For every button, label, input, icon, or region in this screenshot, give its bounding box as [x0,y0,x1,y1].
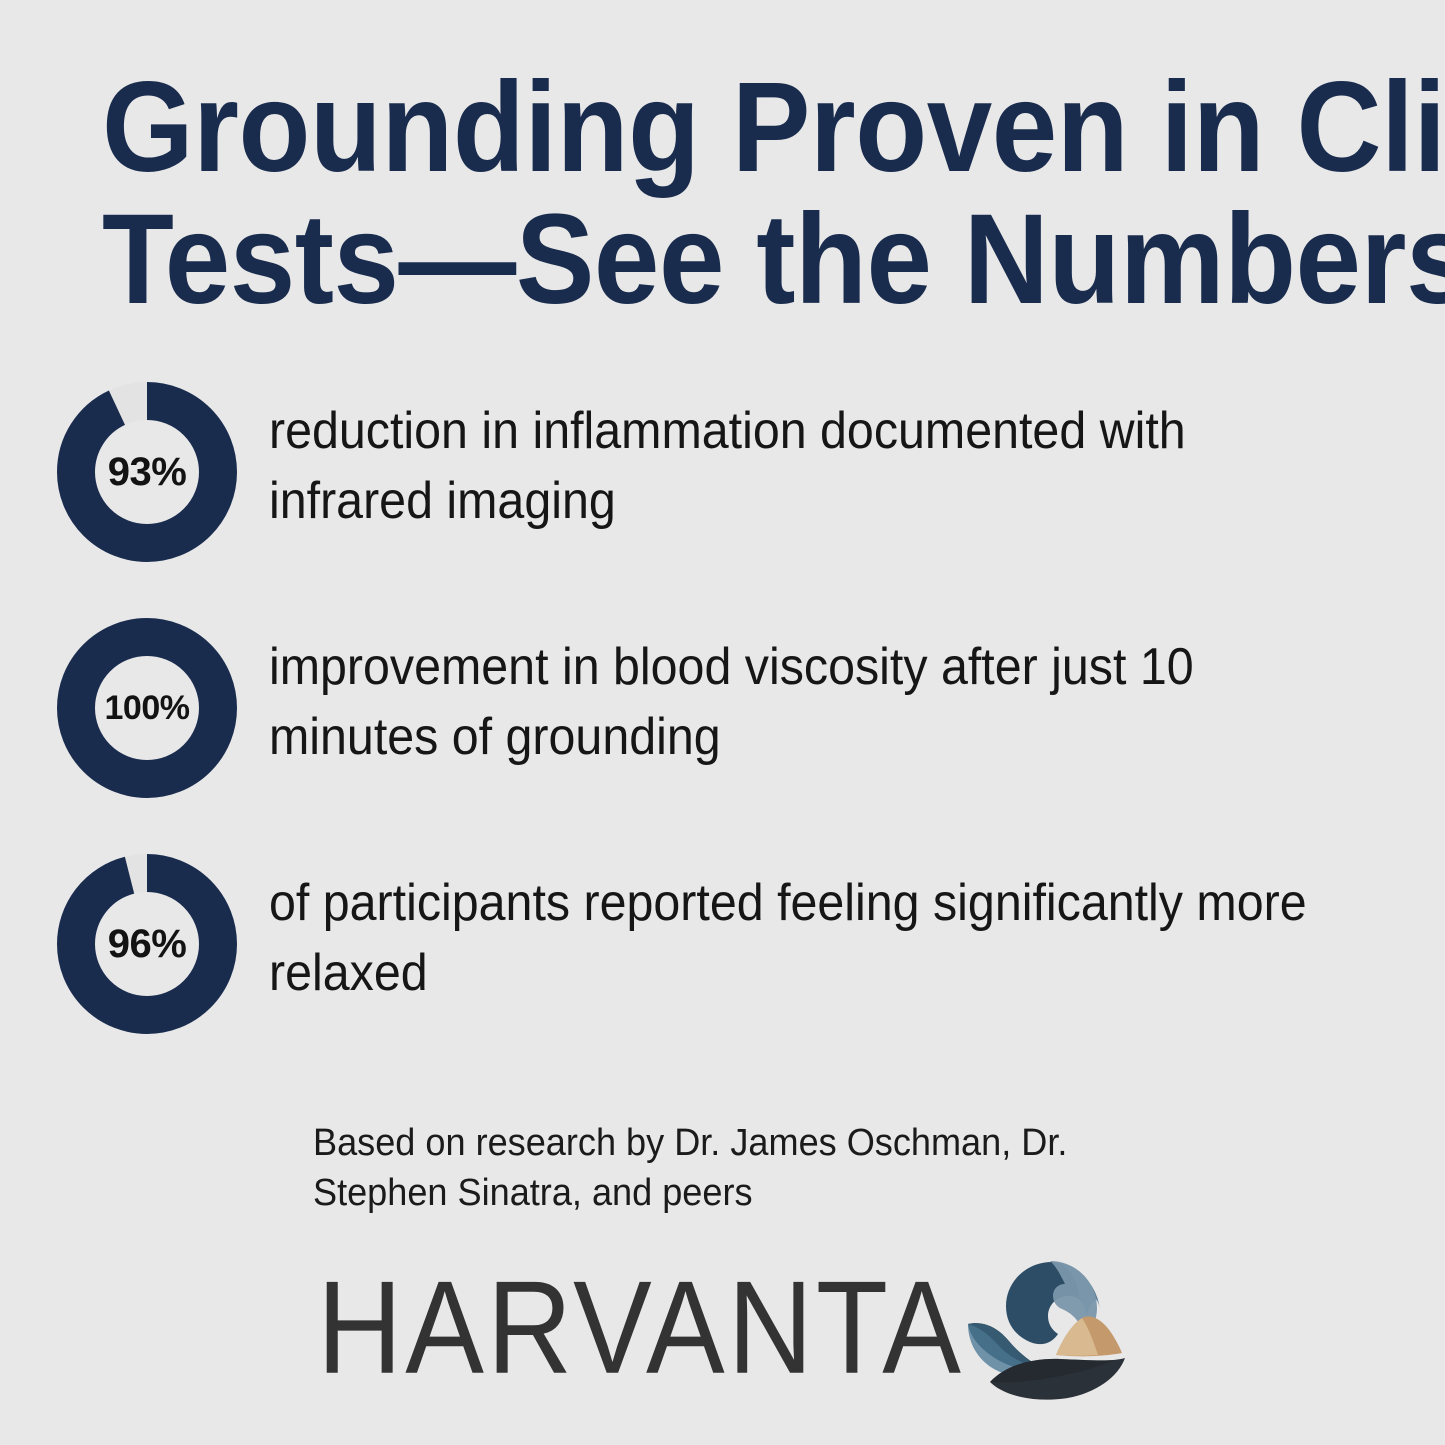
title-line-1: Grounding Proven in Clinical [102,62,1343,194]
harvanta-bird-icon [960,1258,1128,1408]
donut-ring-icon [57,618,237,798]
stat-description: improvement in blood viscosity after jus… [269,632,1311,772]
stat-description: reduction in inflammation documented wit… [269,396,1311,536]
infographic-poster: Grounding Proven in Clinical Tests—See t… [0,0,1445,1445]
stat-row: 100% improvement in blood viscosity afte… [0,618,1445,854]
stat-description: of participants reported feeling signifi… [269,868,1311,1008]
logo-wordmark: HARVANTA [317,1261,964,1395]
source-footnote: Based on research by Dr. James Oschman, … [313,1118,1102,1218]
donut-chart-93: 93% [57,382,237,562]
donut-ring-icon [57,382,237,562]
stat-list: 93% reduction in inflammation documented… [0,382,1445,1090]
page-title: Grounding Proven in Clinical Tests—See t… [48,62,1397,326]
brand-logo: HARVANTA [0,1248,1445,1408]
donut-chart-100: 100% [57,618,237,798]
donut-ring-icon [57,854,237,1034]
title-line-2: Tests—See the Numbers [102,194,1343,326]
footnote-line-1: Based on research by Dr. James Oschman, … [313,1122,1067,1164]
footnote-line-2: Stephen Sinatra, and peers [313,1172,753,1214]
donut-chart-96: 96% [57,854,237,1034]
stat-row: 93% reduction in inflammation documented… [0,382,1445,618]
stat-row: 96% of participants reported feeling sig… [0,854,1445,1090]
